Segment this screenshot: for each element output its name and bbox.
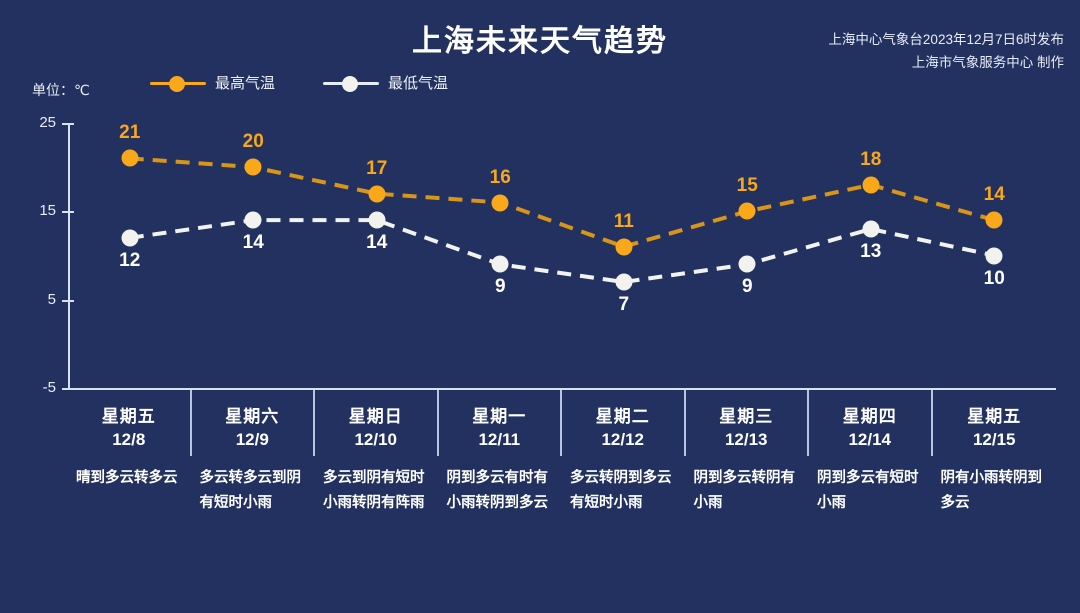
day-column[interactable]: 星期五12/15阴有小雨转阴到多云 bbox=[933, 390, 1057, 570]
data-label-high: 21 bbox=[119, 122, 140, 144]
day-weekday: 星期一 bbox=[439, 402, 561, 427]
data-label-high: 20 bbox=[243, 131, 264, 153]
y-tick-label: -5 bbox=[12, 379, 56, 396]
data-label-high: 17 bbox=[366, 158, 387, 180]
data-label-low: 12 bbox=[119, 250, 140, 272]
data-point-high bbox=[986, 212, 1003, 229]
y-tick-label: 25 bbox=[12, 114, 56, 131]
column-divider-mask bbox=[1056, 456, 1058, 570]
data-label-low: 10 bbox=[984, 268, 1005, 290]
day-forecast-description: 多云到阴有短时小雨转阴有阵雨 bbox=[323, 466, 429, 516]
day-forecast-description: 多云转多云到阴有短时小雨 bbox=[200, 466, 306, 516]
data-point-low bbox=[245, 212, 262, 229]
day-columns: 星期五12/8晴到多云转多云星期六12/9多云转多云到阴有短时小雨星期日12/1… bbox=[68, 390, 1056, 570]
data-point-low bbox=[368, 212, 385, 229]
day-column[interactable]: 星期六12/9多云转多云到阴有短时小雨 bbox=[192, 390, 316, 570]
day-forecast-description: 晴到多云转多云 bbox=[76, 466, 182, 491]
day-forecast-description: 阴到多云有时有小雨转阴到多云 bbox=[447, 466, 553, 516]
day-weekday: 星期三 bbox=[686, 402, 808, 427]
day-column[interactable]: 星期一12/11阴到多云有时有小雨转阴到多云 bbox=[439, 390, 563, 570]
data-label-high: 18 bbox=[860, 149, 881, 171]
data-point-low bbox=[739, 256, 756, 273]
day-forecast-description: 多云转阴到多云有短时小雨 bbox=[570, 466, 676, 516]
day-column[interactable]: 星期四12/14阴到多云有短时小雨 bbox=[809, 390, 933, 570]
data-label-low: 13 bbox=[860, 241, 881, 263]
data-point-high bbox=[492, 194, 509, 211]
day-date: 12/11 bbox=[439, 430, 561, 450]
day-date: 12/14 bbox=[809, 430, 931, 450]
day-column[interactable]: 星期五12/8晴到多云转多云 bbox=[68, 390, 192, 570]
data-point-low bbox=[862, 221, 879, 238]
day-date: 12/9 bbox=[192, 430, 314, 450]
day-date: 12/13 bbox=[686, 430, 808, 450]
data-point-low bbox=[492, 256, 509, 273]
data-point-high bbox=[615, 238, 632, 255]
y-tick-label: 5 bbox=[12, 291, 56, 308]
data-point-high bbox=[368, 185, 385, 202]
data-label-low: 9 bbox=[742, 276, 753, 298]
day-date: 12/12 bbox=[562, 430, 684, 450]
y-axis bbox=[68, 123, 70, 390]
weather-trend-chart: 上海未来天气趋势 上海中心气象台2023年12月7日6时发布 上海市气象服务中心… bbox=[0, 0, 1080, 613]
data-label-high: 15 bbox=[737, 175, 758, 197]
day-column[interactable]: 星期二12/12多云转阴到多云有短时小雨 bbox=[562, 390, 686, 570]
day-weekday: 星期二 bbox=[562, 402, 684, 427]
y-tick-mark bbox=[62, 211, 74, 213]
day-weekday: 星期四 bbox=[809, 402, 931, 427]
day-date: 12/15 bbox=[933, 430, 1057, 450]
data-label-low: 14 bbox=[366, 232, 387, 254]
y-tick-label: 15 bbox=[12, 202, 56, 219]
data-point-high bbox=[121, 150, 138, 167]
data-label-low: 14 bbox=[243, 232, 264, 254]
day-date: 12/10 bbox=[315, 430, 437, 450]
data-label-high: 11 bbox=[614, 211, 634, 233]
data-point-high bbox=[245, 159, 262, 176]
day-weekday: 星期五 bbox=[933, 402, 1057, 427]
data-point-low bbox=[615, 274, 632, 291]
day-forecast-description: 阴有小雨转阴到多云 bbox=[941, 466, 1047, 516]
day-column[interactable]: 星期三12/13阴到多云转阴有小雨 bbox=[686, 390, 810, 570]
day-forecast-description: 阴到多云转阴有小雨 bbox=[694, 466, 800, 516]
data-point-high bbox=[862, 176, 879, 193]
data-point-high bbox=[739, 203, 756, 220]
data-label-high: 16 bbox=[490, 167, 511, 189]
day-column[interactable]: 星期日12/10多云到阴有短时小雨转阴有阵雨 bbox=[315, 390, 439, 570]
day-forecast-description: 阴到多云有短时小雨 bbox=[817, 466, 923, 516]
day-weekday: 星期五 bbox=[68, 402, 190, 427]
y-tick-mark bbox=[62, 123, 74, 125]
data-point-low bbox=[121, 229, 138, 246]
data-label-low: 7 bbox=[618, 294, 629, 316]
data-point-low bbox=[986, 247, 1003, 264]
day-weekday: 星期日 bbox=[315, 402, 437, 427]
day-weekday: 星期六 bbox=[192, 402, 314, 427]
day-date: 12/8 bbox=[68, 430, 190, 450]
data-label-high: 14 bbox=[984, 184, 1005, 206]
y-tick-mark bbox=[62, 300, 74, 302]
data-label-low: 9 bbox=[495, 276, 506, 298]
